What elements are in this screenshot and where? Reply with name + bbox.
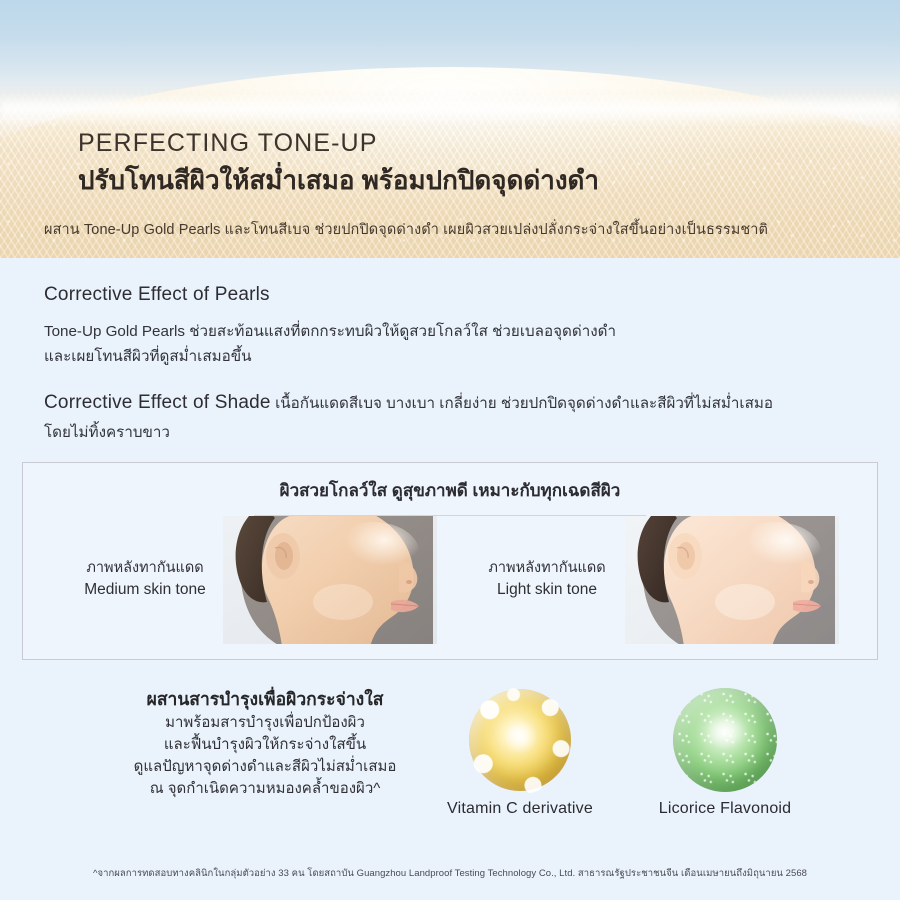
ingredients-heading: ผสานสารบำรุงเพื่อผิวกระจ่างใส <box>95 688 435 712</box>
licorice-label: Licorice Flavonoid <box>620 800 830 818</box>
hero-title-en: PERFECTING TONE-UP <box>78 128 599 158</box>
pearls-section: Corrective Effect of Pearls Tone-Up Gold… <box>44 284 856 369</box>
light-caption-th: ภาพหลังทากันแดด <box>469 558 625 579</box>
comparison-item-medium: ภาพหลังทากันแดด Medium skin tone <box>67 516 437 644</box>
ingredient-licorice-flavonoid: Licorice Flavonoid <box>620 686 830 818</box>
ingredients-line-4: ณ จุดกำเนิดความหมองคล้ำของผิว^ <box>95 778 435 800</box>
hero-title-th: ปรับโทนสีผิวให้สม่ำเสมอ พร้อมปกปิดจุดด่า… <box>78 164 599 197</box>
ingredients-section: ผสานสารบำรุงเพื่อผิวกระจ่างใส มาพร้อมสาร… <box>0 688 900 833</box>
ingredients-line-3: ดูแลปัญหาจุดด่างดำและสีผิวไม่สม่ำเสมอ <box>95 756 435 778</box>
face-profile-medium-illustration <box>223 516 437 644</box>
shade-heading: Corrective Effect of Shade <box>44 392 271 413</box>
medium-caption-th: ภาพหลังทากันแดด <box>67 558 223 579</box>
shade-heading-line: Corrective Effect of Shade เนื้อกันแดดสี… <box>44 391 856 415</box>
comparison-item-light: ภาพหลังทากันแดด Light skin tone <box>469 516 839 644</box>
vitamin-c-orb-wrap <box>415 686 625 794</box>
ingredients-copy: ผสานสารบำรุงเพื่อผิวกระจ่างใส มาพร้อมสาร… <box>95 688 435 800</box>
vitamin-c-label: Vitamin C derivative <box>415 800 625 818</box>
pearls-heading: Corrective Effect of Pearls <box>44 284 856 306</box>
pearls-paragraph: Tone-Up Gold Pearls ช่วยสะท้อนแสงที่ตกกร… <box>44 320 856 369</box>
skin-tone-comparison-card: ผิวสวยโกลว์ใส ดูสุขภาพดี เหมาะกับทุกเฉดส… <box>22 462 878 660</box>
hero-heading-group: PERFECTING TONE-UP ปรับโทนสีผิวให้สม่ำเส… <box>78 128 599 197</box>
medium-caption-en: Medium skin tone <box>67 579 223 601</box>
ingredient-vitamin-c: Vitamin C derivative <box>415 686 625 818</box>
ingredients-line-1: มาพร้อมสารบำรุงเพื่อปกป้องผิว <box>95 712 435 734</box>
light-tone-label: ภาพหลังทากันแดด Light skin tone <box>469 558 625 601</box>
hero-banner: PERFECTING TONE-UP ปรับโทนสีผิวให้สม่ำเส… <box>0 0 900 258</box>
light-caption-en: Light skin tone <box>469 579 625 601</box>
pearls-line-2: และเผยโทนสีผิวที่ดูสม่ำเสมอขึ้น <box>44 348 252 365</box>
shade-inline-text: เนื้อกันแดดสีเบจ บางเบา เกลี่ยง่าย ช่วยป… <box>275 395 773 412</box>
photo-light-skin-tone <box>625 516 839 644</box>
shade-line-2: โดยไม่ทิ้งคราบขาว <box>44 421 856 446</box>
gold-droplet-icon <box>469 689 571 791</box>
clinical-footnote: ^จากผลการทดสอบทางคลินิกในกลุ่มตัวอย่าง 3… <box>0 866 900 881</box>
comparison-row: ภาพหลังทากันแดด Medium skin tone <box>23 516 877 648</box>
hero-subtitle: ผสาน Tone-Up Gold Pearls และโทนสีเบจ ช่ว… <box>44 218 768 241</box>
body-copy-section: Corrective Effect of Pearls Tone-Up Gold… <box>0 284 900 446</box>
licorice-orb-wrap <box>620 686 830 794</box>
face-profile-light-illustration <box>625 516 839 644</box>
green-droplet-icon <box>673 688 777 792</box>
comparison-title: ผิวสวยโกลว์ใส ดูสุขภาพดี เหมาะกับทุกเฉดส… <box>23 477 877 504</box>
ingredients-line-2: และฟื้นบำรุงผิวให้กระจ่างใสขึ้น <box>95 734 435 756</box>
pearls-line-1: Tone-Up Gold Pearls ช่วยสะท้อนแสงที่ตกกร… <box>44 323 616 340</box>
medium-tone-label: ภาพหลังทากันแดด Medium skin tone <box>67 558 223 601</box>
photo-medium-skin-tone <box>223 516 437 644</box>
product-feature-page: PERFECTING TONE-UP ปรับโทนสีผิวให้สม่ำเส… <box>0 0 900 900</box>
shade-section: Corrective Effect of Shade เนื้อกันแดดสี… <box>44 391 856 446</box>
